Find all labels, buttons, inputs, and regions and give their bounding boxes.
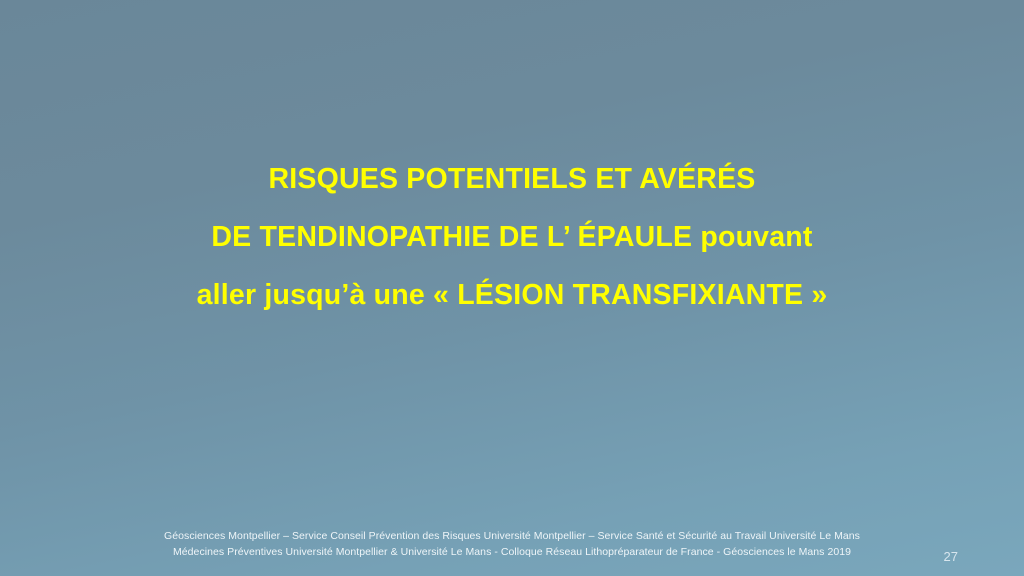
title-line-3: aller jusqu’à une « LÉSION TRANSFIXIANTE… xyxy=(0,266,1024,324)
page-number: 27 xyxy=(944,549,958,564)
title-line-2: DE TENDINOPATHIE DE L’ ÉPAULE pouvant xyxy=(0,208,1024,266)
title-line-1: RISQUES POTENTIELS ET AVÉRÉS xyxy=(0,150,1024,208)
slide-footer: Géosciences Montpellier – Service Consei… xyxy=(0,528,1024,560)
presentation-slide: RISQUES POTENTIELS ET AVÉRÉS DE TENDINOP… xyxy=(0,0,1024,576)
slide-title: RISQUES POTENTIELS ET AVÉRÉS DE TENDINOP… xyxy=(0,150,1024,324)
footer-line-2: Médecines Préventives Université Montpel… xyxy=(0,544,1024,560)
footer-line-1: Géosciences Montpellier – Service Consei… xyxy=(0,528,1024,544)
partner-logos-strip: Géo sciences Montpellier xyxy=(0,428,1024,518)
